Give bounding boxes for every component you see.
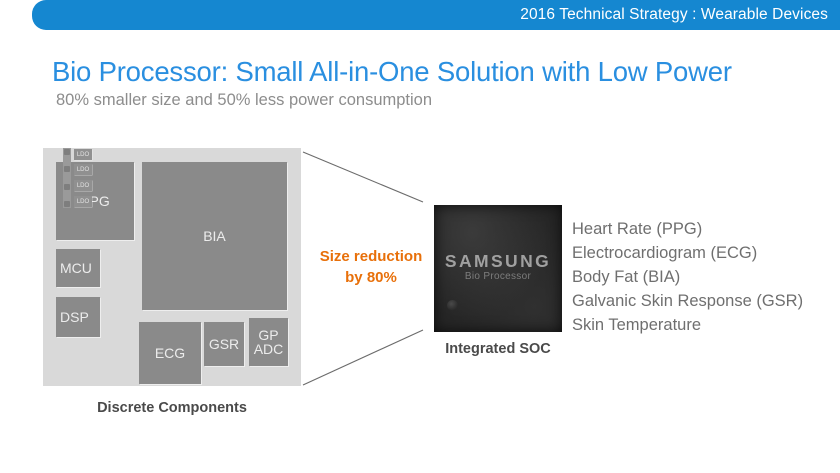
component-block-bia: BIA bbox=[142, 162, 287, 310]
header-banner: 2016 Technical Strategy : Wearable Devic… bbox=[32, 0, 840, 30]
passive-segment bbox=[64, 201, 70, 207]
component-label-gp: GP bbox=[258, 328, 278, 342]
passive-segment bbox=[64, 166, 70, 172]
connector-line-bottom bbox=[303, 330, 423, 385]
feature-item: Electrocardiogram (ECG) bbox=[572, 241, 803, 265]
integrated-soc-caption: Integrated SOC bbox=[434, 341, 562, 357]
component-label-bia: BIA bbox=[203, 229, 226, 243]
component-block-ldo: LDO bbox=[74, 196, 92, 207]
component-label-adc: ADC bbox=[254, 342, 284, 356]
size-reduction-callout: Size reduction by 80% bbox=[305, 246, 437, 289]
component-block-ldo: LDO bbox=[74, 180, 92, 191]
feature-list: Heart Rate (PPG) Electrocardiogram (ECG)… bbox=[572, 217, 803, 337]
discrete-components-caption: Discrete Components bbox=[43, 400, 301, 416]
component-block-dsp: DSP bbox=[56, 297, 100, 337]
soc-brand-text: SAMSUNG bbox=[434, 251, 562, 272]
page-subtitle: 80% smaller size and 50% less power cons… bbox=[56, 91, 432, 110]
component-block-gsr: GSR bbox=[204, 322, 244, 366]
chip-pin-marker-icon bbox=[447, 300, 458, 311]
connector-line-top bbox=[303, 152, 423, 202]
component-strip-passives bbox=[63, 148, 71, 208]
size-reduction-line1: Size reduction bbox=[305, 246, 437, 267]
component-label-dsp: DSP bbox=[60, 310, 89, 324]
feature-item: Heart Rate (PPG) bbox=[572, 217, 803, 241]
page-title: Bio Processor: Small All-in-One Solution… bbox=[52, 56, 732, 88]
integrated-soc-chip: SAMSUNG Bio Processor bbox=[434, 205, 562, 332]
passive-segment bbox=[64, 149, 70, 155]
soc-subbrand-text: Bio Processor bbox=[434, 271, 562, 282]
component-block-gp-adc: GP ADC bbox=[249, 318, 288, 366]
header-banner-text: 2016 Technical Strategy : Wearable Devic… bbox=[520, 6, 840, 24]
feature-item: Skin Temperature bbox=[572, 313, 803, 337]
feature-item: Galvanic Skin Response (GSR) bbox=[572, 289, 803, 313]
component-label-gsr: GSR bbox=[209, 337, 239, 351]
feature-item: Body Fat (BIA) bbox=[572, 265, 803, 289]
component-block-ecg: ECG bbox=[139, 322, 201, 384]
component-label-ecg: ECG bbox=[155, 346, 185, 360]
component-block-mcu: MCU bbox=[56, 249, 100, 287]
component-block-ldo: LDO bbox=[74, 164, 92, 175]
size-reduction-line2: by 80% bbox=[305, 267, 437, 288]
component-block-ldo: LDO bbox=[74, 149, 92, 160]
passive-segment bbox=[64, 184, 70, 190]
component-label-mcu: MCU bbox=[60, 261, 92, 275]
